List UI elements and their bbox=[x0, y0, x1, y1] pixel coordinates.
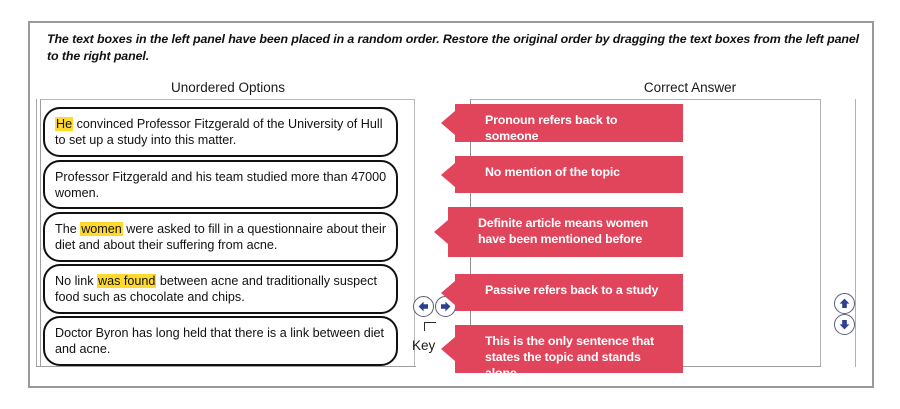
option-box[interactable]: Doctor Byron has long held that there is… bbox=[43, 316, 398, 366]
callout-pointer-icon bbox=[441, 163, 455, 187]
callout-pointer-icon bbox=[441, 281, 455, 305]
arrow-down-icon bbox=[838, 318, 851, 331]
scroll-down-button[interactable] bbox=[834, 314, 855, 335]
highlighted-phrase: was found bbox=[97, 274, 156, 288]
callout-text-segment: No mention of the topic bbox=[485, 165, 620, 179]
option-text-segment: Doctor Byron has long held that there is… bbox=[55, 326, 384, 356]
callout-text-segment: refers back to a study bbox=[530, 283, 658, 297]
right-column-header: Correct Answer bbox=[560, 80, 820, 95]
option-box[interactable]: Professor Fitzgerald and his team studie… bbox=[43, 160, 398, 209]
exercise-screen: The text boxes in the left panel have be… bbox=[0, 0, 900, 409]
far-right-divider bbox=[855, 99, 856, 367]
callout-pointer-icon bbox=[434, 220, 448, 244]
key-label: Key bbox=[412, 338, 435, 353]
callout-keyword: Definite article bbox=[478, 216, 561, 230]
highlighted-phrase: women bbox=[80, 222, 123, 236]
option-text-segment: No link bbox=[55, 274, 97, 288]
move-left-button[interactable] bbox=[413, 296, 434, 317]
option-text-segment: The bbox=[55, 222, 80, 236]
callout-keyword: Passive bbox=[485, 283, 530, 297]
answer-callout[interactable]: This is the only sentence that states th… bbox=[455, 325, 683, 373]
instruction-text: The text boxes in the left panel have be… bbox=[47, 31, 859, 65]
callout-keyword: Pronoun bbox=[485, 113, 535, 127]
option-box[interactable]: He convinced Professor Fitzgerald of the… bbox=[43, 107, 398, 157]
highlighted-phrase: He bbox=[55, 117, 73, 131]
answer-callout[interactable]: Pronoun refers back to someone bbox=[455, 104, 683, 142]
answer-callout[interactable]: Definite article means women have been m… bbox=[448, 207, 683, 257]
scroll-up-button[interactable] bbox=[834, 293, 855, 314]
callout-pointer-icon bbox=[441, 337, 455, 361]
callout-pointer-icon bbox=[441, 111, 455, 135]
answer-callout[interactable]: Passive refers back to a study bbox=[455, 274, 683, 311]
arrow-up-icon bbox=[838, 297, 851, 310]
left-panel-bottom-border bbox=[36, 366, 416, 367]
option-text-segment: Professor Fitzgerald and his team studie… bbox=[55, 170, 386, 200]
option-box[interactable]: The women were asked to fill in a questi… bbox=[43, 212, 398, 262]
answer-callout[interactable]: No mention of the topic bbox=[455, 156, 683, 193]
callout-keyword: topic bbox=[545, 350, 574, 364]
left-column-header: Unordered Options bbox=[38, 80, 418, 95]
option-text-segment: convinced Professor Fitzgerald of the Un… bbox=[55, 117, 383, 147]
key-bracket-mark bbox=[424, 322, 436, 331]
option-box[interactable]: No link was found between acne and tradi… bbox=[43, 264, 398, 314]
left-panel-edge bbox=[36, 99, 37, 367]
arrow-left-icon bbox=[417, 300, 430, 313]
